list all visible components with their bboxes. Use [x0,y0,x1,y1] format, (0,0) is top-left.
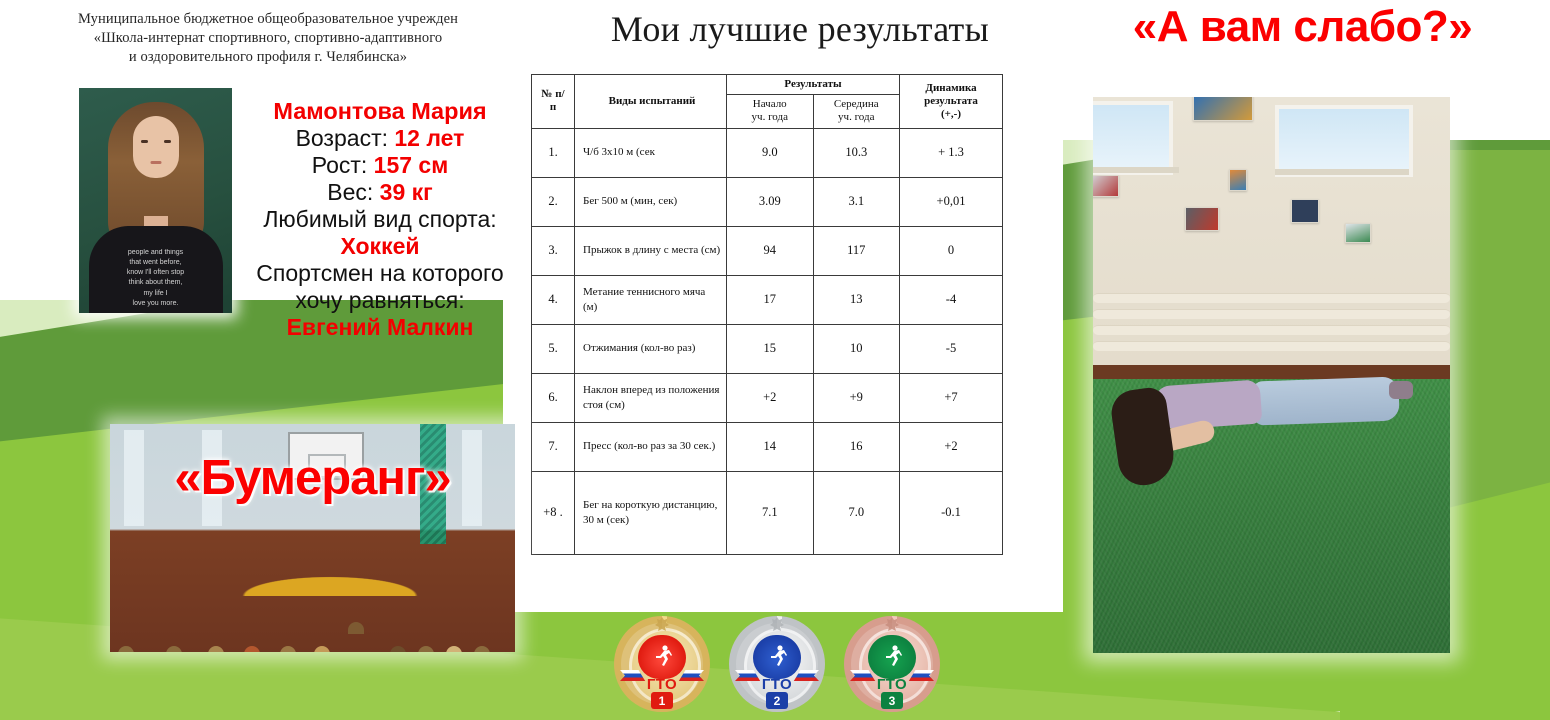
cell-number: 1. [532,128,575,177]
cell-dynamics: +2 [900,422,1003,471]
cell-kind: Отжимания (кол-во раз) [575,324,727,373]
cell-dynamics: -0.1 [900,471,1003,554]
cell-start: +2 [727,373,814,422]
cell-number: 6. [532,373,575,422]
cell-number: 7. [532,422,575,471]
results-table: № п/ п Виды испытаний Результаты Динамик… [531,74,1003,555]
th-middle-of-year: Середина уч. года [813,95,900,128]
wall-photo-2 [1229,169,1247,191]
badge-level: 3 [881,692,903,709]
window-sill-right [1275,169,1409,175]
height-label: Рост: [312,152,368,178]
wall-photo-5 [1345,223,1371,243]
table-row: 1. Ч/б 3х10 м (сек 9.0 10.3 + 1.3 [532,128,1003,177]
radiator-pipe-3 [1093,325,1450,335]
portrait-mouth [150,161,161,164]
favorite-sport-value: Хоккей [240,233,520,260]
wall-photo-3 [1185,207,1219,231]
gto-badges-row: ГТО 1 ГТО 2 [612,614,942,714]
badge-label: ГТО [612,676,712,693]
weight-value: 39 кг [380,179,433,205]
cell-middle: 10.3 [813,128,900,177]
cell-dynamics: -4 [900,275,1003,324]
age-value: 12 лет [394,125,464,151]
idol-label-line1: Спортсмен на которого [240,260,520,287]
portrait-eye-left [141,140,148,143]
gto-badge-bronze: ГТО 3 [842,614,942,714]
radiator-pipe-1 [1093,293,1450,303]
portrait-shirt-text: people and things that went before, know… [100,248,212,309]
cell-middle: 117 [813,226,900,275]
age-label: Возраст: [296,125,388,151]
cell-kind: Пресс (кол-во раз за 30 сек.) [575,422,727,471]
wall-photo-4 [1291,199,1319,223]
wall-window-left [1093,101,1173,175]
th-results-group: Результаты [727,75,900,95]
eagle-crest-icon [882,616,902,634]
table-header-row-1: № п/ п Виды испытаний Результаты Динамик… [532,75,1003,95]
height-value: 157 см [374,152,449,178]
portrait-eye-right [164,140,171,143]
athlete-jeans [1252,376,1399,425]
th-start-of-year: Начало уч. года [727,95,814,128]
cell-number: 5. [532,324,575,373]
student-name: Мамонтова Мария [240,98,520,125]
cell-middle: 10 [813,324,900,373]
cell-start: 9.0 [727,128,814,177]
table-row: +8 . Бег на короткую дистанцию, 30 м (се… [532,471,1003,554]
cell-kind: Бег на короткую дистанцию, 30 м (сек) [575,471,727,554]
student-portrait-photo: people and things that went before, know… [79,88,232,313]
cell-number: +8 . [532,471,575,554]
runner-icon [766,644,788,670]
runner-icon [881,644,903,670]
cell-kind: Прыжок в длину с места (см) [575,226,727,275]
badge-center-disc [753,635,801,679]
cell-dynamics: -5 [900,324,1003,373]
athlete-shoe [1389,381,1413,399]
student-profile: Мамонтова Мария Возраст: 12 лет Рост: 15… [240,98,520,341]
page-title: Мои лучшие результаты [540,8,1060,50]
team-group-photo: «Бумеранг» [110,424,515,652]
th-number: № п/ п [532,75,575,129]
cell-number: 3. [532,226,575,275]
cell-middle: 7.0 [813,471,900,554]
slide-canvas: Муниципальное бюджетное общеобразователь… [0,0,1550,720]
cell-middle: +9 [813,373,900,422]
gym-floor-marking [230,574,430,596]
badge-center-disc [868,635,916,679]
cell-kind: Наклон вперед из положения стоя (см) [575,373,727,422]
cell-dynamics: 0 [900,226,1003,275]
weight-label: Вес: [327,179,373,205]
student-height-row: Рост: 157 см [240,152,520,179]
badge-label: ГТО [842,676,942,693]
wall-poster-top [1193,97,1253,121]
table-body: 1. Ч/б 3х10 м (сек 9.0 10.3 + 1.3 2. Бег… [532,128,1003,554]
student-weight-row: Вес: 39 кг [240,179,520,206]
school-name: Муниципальное бюджетное общеобразователь… [18,10,518,67]
wall-photo-1 [1093,175,1119,197]
table-row: 6. Наклон вперед из положения стоя (см) … [532,373,1003,422]
table-row: 7. Пресс (кол-во раз за 30 сек.) 14 16 +… [532,422,1003,471]
cell-kind: Метание теннисного мяча (м) [575,275,727,324]
cell-start: 14 [727,422,814,471]
wall-baseboard [1093,365,1450,379]
badge-center-disc [638,635,686,679]
cell-dynamics: +0,01 [900,177,1003,226]
idol-value: Евгений Малкин [240,314,520,341]
table-row: 4. Метание теннисного мяча (м) 17 13 -4 [532,275,1003,324]
cell-dynamics: + 1.3 [900,128,1003,177]
plank-exercise-photo [1093,97,1450,653]
favorite-sport-label: Любимый вид спорта: [240,206,520,233]
cell-middle: 3.1 [813,177,900,226]
cell-start: 3.09 [727,177,814,226]
runner-icon [651,644,673,670]
cell-start: 94 [727,226,814,275]
th-dynamics: Динамика результата (+,-) [900,75,1003,129]
cell-start: 17 [727,275,814,324]
portrait-face [133,116,179,178]
cell-number: 4. [532,275,575,324]
table-head: № п/ п Виды испытаний Результаты Динамик… [532,75,1003,129]
radiator-pipe-2 [1093,309,1450,319]
idol-label-line2: хочу равняться: [240,287,520,314]
cell-kind: Ч/б 3х10 м (сек [575,128,727,177]
eagle-crest-icon [652,616,672,634]
cell-middle: 16 [813,422,900,471]
th-kind: Виды испытаний [575,75,727,129]
radiator-pipe-4 [1093,341,1450,351]
cell-kind: Бег 500 м (мин, сек) [575,177,727,226]
badge-level: 2 [766,692,788,709]
window-sill-left [1093,167,1179,173]
challenge-title: «А вам слабо?» [1055,2,1550,52]
student-age-row: Возраст: 12 лет [240,125,520,152]
table-row: 2. Бег 500 м (мин, сек) 3.09 3.1 +0,01 [532,177,1003,226]
table-row: 5. Отжимания (кол-во раз) 15 10 -5 [532,324,1003,373]
wall-window-right [1275,105,1413,177]
cell-dynamics: +7 [900,373,1003,422]
cell-middle: 13 [813,275,900,324]
eagle-crest-icon [767,616,787,634]
cell-start: 7.1 [727,471,814,554]
gto-badge-silver: ГТО 2 [727,614,827,714]
table-row: 3. Прыжок в длину с места (см) 94 117 0 [532,226,1003,275]
badge-label: ГТО [727,676,827,693]
gto-badge-gold: ГТО 1 [612,614,712,714]
badge-level: 1 [651,692,673,709]
cell-start: 15 [727,324,814,373]
cell-number: 2. [532,177,575,226]
team-name-title: «Бумеранг» [110,450,515,506]
